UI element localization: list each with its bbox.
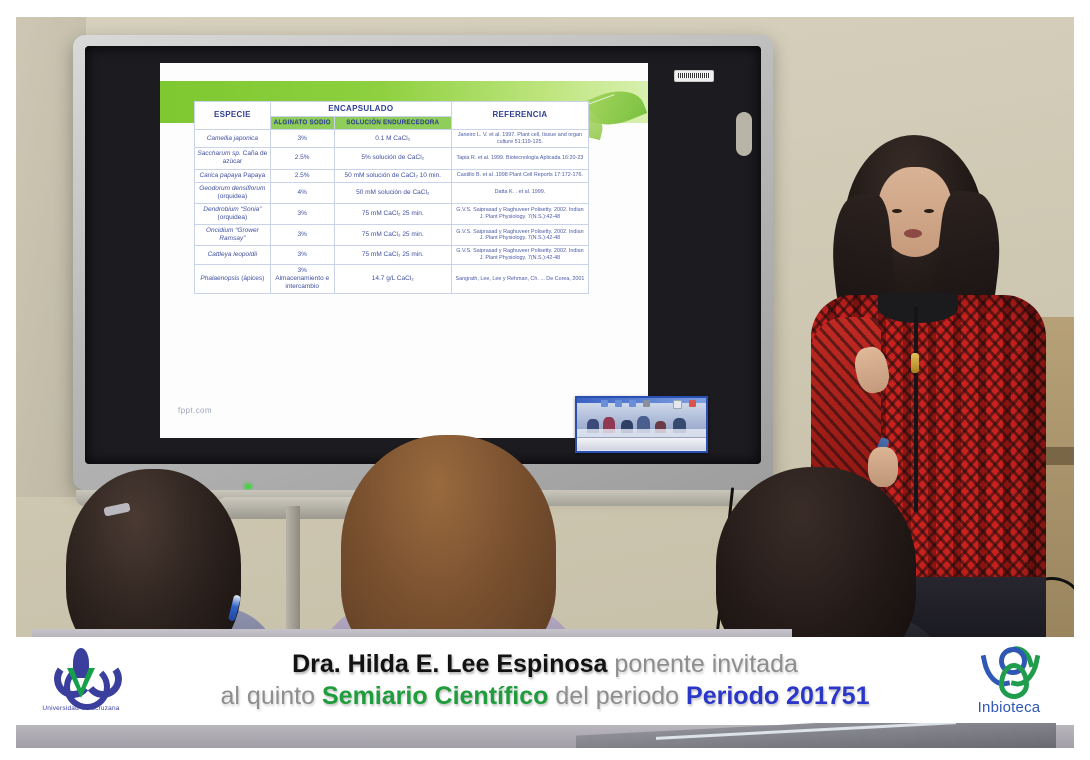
cell-alginato: 3% (270, 129, 334, 148)
whiteboard-stand-left (286, 506, 300, 637)
species-common: (ápices) (241, 275, 264, 282)
cell-alginato: 3% (270, 203, 334, 224)
cell-especie: Carica papaya Papaya (195, 169, 271, 182)
cell-especie: Cattleya leopoldii (195, 246, 271, 265)
table-row: Camellia japonica 3% 0.1 M CaCl₂ Janeiro… (195, 129, 589, 148)
cell-especie: Saccharum sp. Caña de azúcar (195, 148, 271, 169)
whiteboard-side-handle (736, 112, 752, 156)
speaker-role: ponente invitada (607, 650, 797, 678)
cell-solucion: 75 mM CaCl₂ 25 min. (334, 203, 451, 224)
table-row: Carica papaya Papaya 2.5% 50 mM solución… (195, 169, 589, 182)
speaker-zipper (914, 307, 918, 512)
event-name: Semiario Científico (322, 682, 548, 710)
cell-alginato: 4% (270, 182, 334, 203)
cell-referencia: Janeiro L. V. et al. 1997. Plant cell, t… (451, 129, 588, 148)
photo-bottom-inner (16, 723, 1074, 748)
table-header-row: ESPECIE ENCAPSULADO REFERENCIA (195, 102, 589, 117)
cell-alginato: 3% Almacenamiento e intercambio (270, 264, 334, 293)
cell-referencia: G.V.S. Saiprasad y Raghuveer Polisetty. … (451, 225, 588, 246)
species-common: (orquidea) (218, 193, 248, 200)
cell-referencia: Sangrath, Lee, Lee y Rehman, Ch. ... De … (451, 264, 588, 293)
front-desk (32, 629, 792, 637)
caption-mid: del periodo (548, 682, 686, 710)
cell-alginato: 2.5% (270, 148, 334, 169)
cell-referencia: Tapia R. et al. 1999. Biotecnología Apli… (451, 148, 588, 169)
caption-prefix: al quinto (221, 682, 322, 710)
cell-solucion: 50 mM solución de CaCl₂ 10 min. (334, 169, 451, 182)
universidad-veracruzana-logo: Universidad Veracruzana (16, 648, 146, 712)
caption-banner: Universidad Veracruzana Dra. Hilda E. Le… (16, 637, 1074, 723)
speaker-mouth (904, 229, 922, 238)
cell-especie: Dendrobium “Sonia” (orquidea) (195, 203, 271, 224)
species-name: Saccharum sp. (197, 150, 240, 157)
species-common: (orquidea) (218, 214, 248, 221)
cell-referencia: Castillo B. et al .1998 Plant Cell Repor… (451, 169, 588, 182)
photo-bottom-strip (16, 723, 1074, 748)
poster-page: SHARP ESPECIE ENCAPSULADO REFERENCIA (0, 0, 1090, 760)
pip-video-feed (577, 403, 706, 437)
cell-solucion: 5% solución de CaCl₂ (334, 148, 451, 169)
table-row: Geodorum densiflorum (orquidea) 4% 50 mM… (195, 182, 589, 203)
table-row: Phalaenopsis (ápices) 3% Almacenamiento … (195, 264, 589, 293)
cell-alginato: 3% (270, 246, 334, 265)
cell-especie: Oncidium “Grower Ramsay” (195, 225, 271, 246)
species-name: Oncidium “Grower Ramsay” (206, 227, 259, 242)
cell-solucion: 75 mM CaCl₂ 25 min. (334, 225, 451, 246)
pip-toolbar (577, 437, 706, 450)
species-name: Camellia japonica (207, 135, 258, 142)
speaker-collar (878, 293, 958, 323)
cell-alginato: 2.5% (270, 169, 334, 182)
videoconference-window (575, 396, 708, 453)
table-row: Saccharum sp. Caña de azúcar 2.5% 5% sol… (195, 148, 589, 169)
cell-especie: Geodorum densiflorum (orquidea) (195, 182, 271, 203)
cell-solucion: 14.7 g/L CaCl₂ (334, 264, 451, 293)
species-name: Geodorum densiflorum (199, 185, 265, 192)
period-label: Periodo 201751 (686, 682, 869, 710)
audience-2-hair (341, 435, 556, 637)
barcode-label-icon (674, 70, 714, 82)
speaker-name: Dra. Hilda E. Lee Espinosa (292, 650, 607, 678)
cell-solucion: 75 mM CaCl₂ 25 min. (334, 246, 451, 265)
cell-referencia: G.V.S. Saiprasad y Raghuveer Polisetty. … (451, 246, 588, 265)
uv-fleur-icon (52, 648, 110, 702)
col-header-alginato: ALGINATO SODIO (270, 117, 334, 130)
event-photo: SHARP ESPECIE ENCAPSULADO REFERENCIA (16, 17, 1074, 637)
cell-especie: Camellia japonica (195, 129, 271, 148)
power-led-icon (245, 484, 251, 489)
encapsulation-table: ESPECIE ENCAPSULADO REFERENCIA ALGINATO … (194, 101, 589, 294)
speaker-lower-hand (868, 447, 898, 487)
col-header-especie: ESPECIE (195, 102, 271, 130)
col-header-solucion: SOLUCIÓN ENDURECEDORA (334, 117, 451, 130)
caption-line-1: Dra. Hilda E. Lee Espinosa ponente invit… (146, 649, 944, 680)
cell-referencia: Datta K. . et al. 1999. (451, 182, 588, 203)
col-header-referencia: REFERENCIA (451, 102, 588, 130)
cell-referencia: G.V.S. Saiprasad y Raghuveer Polisetty. … (451, 203, 588, 224)
species-name: Cattleya leopoldii (208, 251, 258, 258)
col-header-encapsulado: ENCAPSULADO (270, 102, 451, 117)
table-row: Dendrobium “Sonia” (orquidea) 3% 75 mM C… (195, 203, 589, 224)
caption-line-2: al quinto Semiario Científico del period… (146, 681, 944, 712)
inbioteca-logo: Inbioteca (944, 645, 1074, 716)
species-name: Carica papaya (199, 172, 241, 179)
table-body: Camellia japonica 3% 0.1 M CaCl₂ Janeiro… (195, 129, 589, 294)
cell-especie: Phalaenopsis (ápices) (195, 264, 271, 293)
table-row: Cattleya leopoldii 3% 75 mM CaCl₂ 25 min… (195, 246, 589, 265)
caption-text: Dra. Hilda E. Lee Espinosa ponente invit… (146, 649, 944, 712)
species-name: Phalaenopsis (200, 275, 239, 282)
cell-alginato: 3% (270, 225, 334, 246)
table-row: Oncidium “Grower Ramsay” 3% 75 mM CaCl₂ … (195, 225, 589, 246)
slide-watermark: fppt.com (178, 406, 212, 415)
speaker-zipper-pull (911, 353, 919, 373)
cell-solucion: 0.1 M CaCl₂ (334, 129, 451, 148)
inbioteca-logo-caption: Inbioteca (978, 699, 1041, 716)
species-common: Papaya (243, 172, 265, 179)
cell-solucion: 50 mM solución de CaCl₂ (334, 182, 451, 203)
inbioteca-flame-icon (983, 645, 1035, 695)
projected-slide: ESPECIE ENCAPSULADO REFERENCIA ALGINATO … (160, 63, 648, 438)
species-name: Dendrobium “Sonia” (203, 206, 261, 213)
